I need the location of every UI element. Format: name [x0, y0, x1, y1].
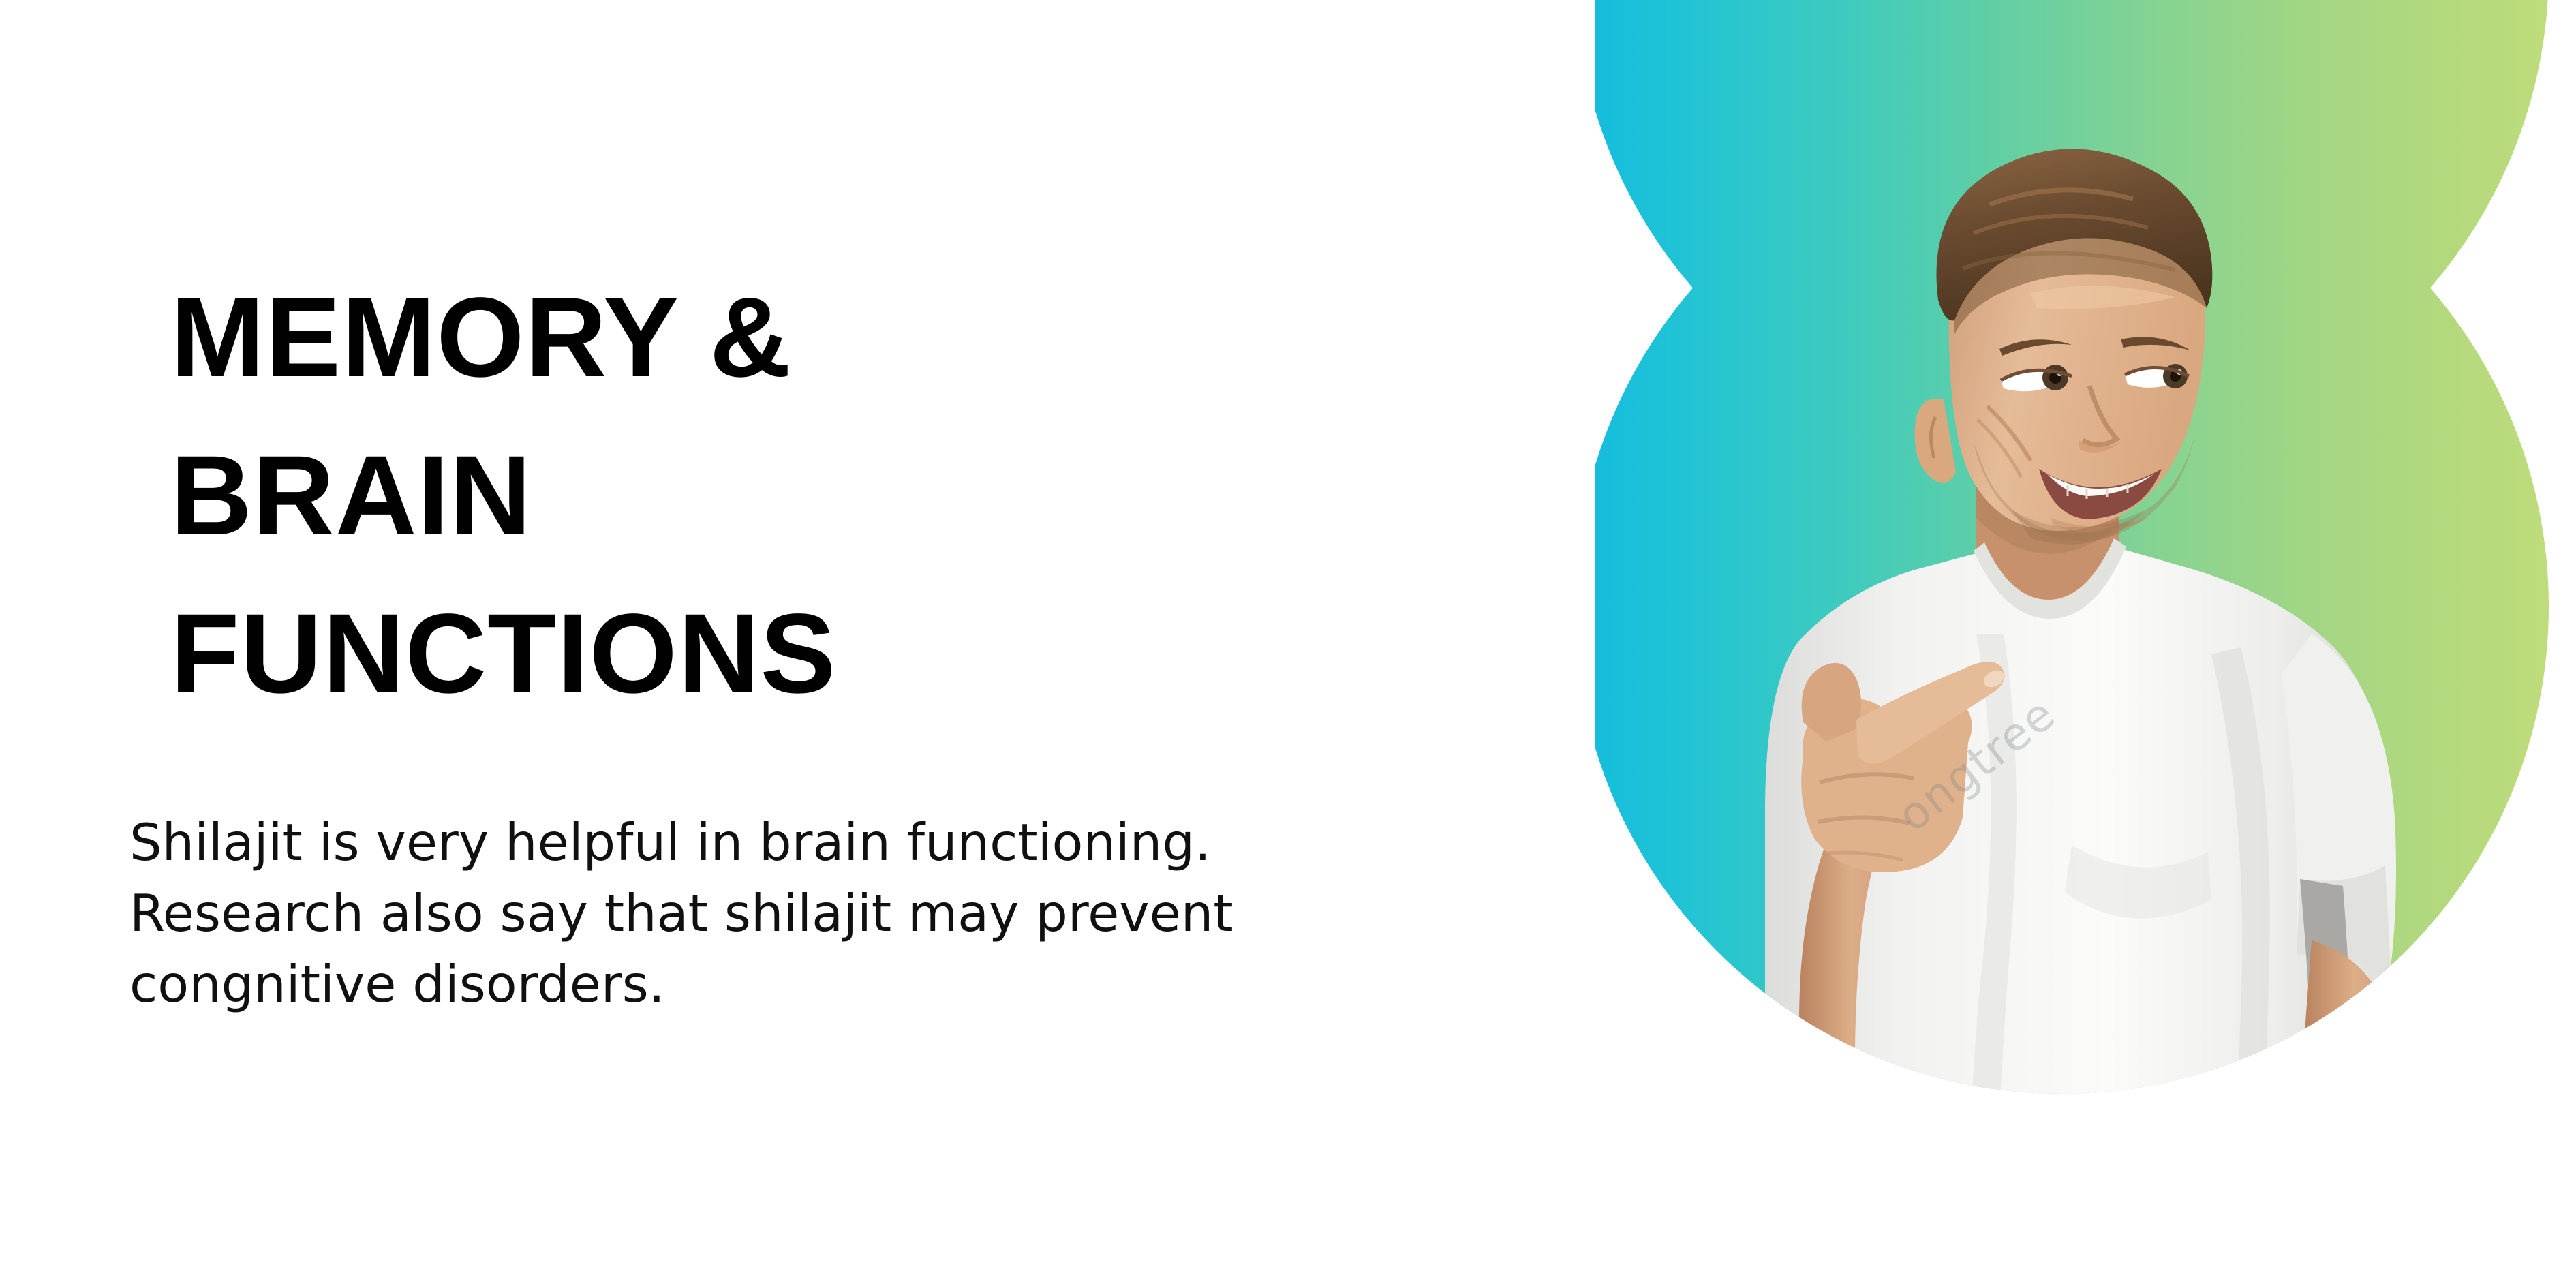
text-column: MEMORY & BRAIN FUNCTIONS Shilajit is ver…	[129, 259, 1424, 1019]
hero-gradient-circle	[1595, 119, 2549, 1094]
page-title: MEMORY & BRAIN FUNCTIONS	[129, 259, 934, 733]
body-paragraph: Shilajit is very helpful in brain functi…	[129, 733, 1411, 1019]
hero-image-region: ongtree	[1595, 0, 2576, 1288]
slide-canvas: MEMORY & BRAIN FUNCTIONS Shilajit is ver…	[0, 0, 2576, 1288]
